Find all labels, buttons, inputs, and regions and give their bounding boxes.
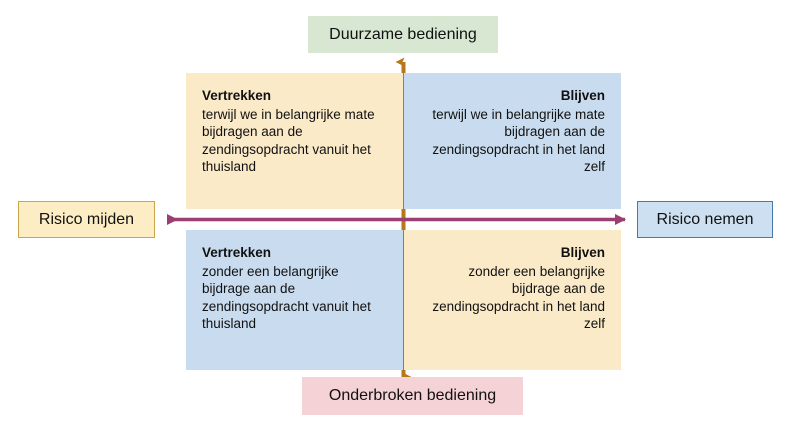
quadrant-diagram: Vertrekken terwijl we in belangrijke mat… — [0, 0, 789, 438]
quadrant-bottom-right-title: Blijven — [420, 244, 605, 262]
quadrant-bottom-left: Vertrekken zonder een belangrijke bijdra… — [186, 230, 403, 370]
quadrant-top-right-title: Blijven — [420, 87, 605, 105]
quadrant-bottom-left-body: zonder een belangrijke bijdrage aan de z… — [202, 263, 387, 333]
quadrant-bottom-left-title: Vertrekken — [202, 244, 387, 262]
axis-label-left: Risico mijden — [18, 201, 155, 238]
quadrant-top-right: Blijven terwijl we in belangrijke mate b… — [404, 73, 621, 209]
quadrant-top-left: Vertrekken terwijl we in belangrijke mat… — [186, 73, 403, 209]
axis-label-top: Duurzame bediening — [308, 16, 498, 53]
quadrant-bottom-right: Blijven zonder een belangrijke bijdrage … — [404, 230, 621, 370]
quadrant-top-right-body: terwijl we in belangrijke mate bijdragen… — [420, 106, 605, 176]
quadrant-top-left-title: Vertrekken — [202, 87, 387, 105]
quadrant-top-left-body: terwijl we in belangrijke mate bijdragen… — [202, 106, 387, 176]
axis-label-right: Risico nemen — [637, 201, 773, 238]
quadrant-bottom-right-body: zonder een belangrijke bijdrage aan de z… — [420, 263, 605, 333]
axis-label-bottom: Onderbroken bediening — [302, 377, 523, 415]
